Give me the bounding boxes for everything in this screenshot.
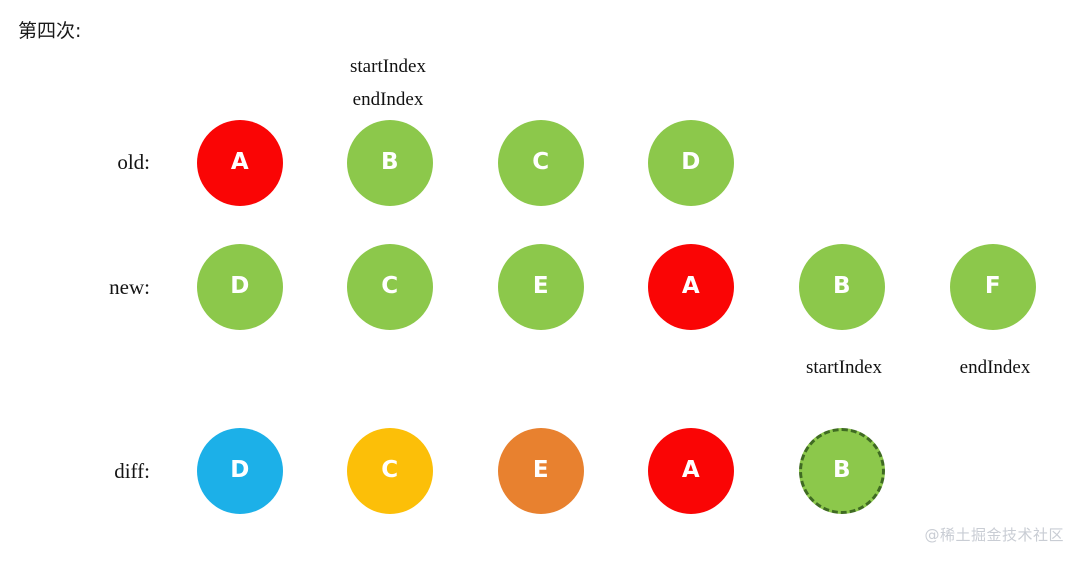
node-old-c[interactable]: C (498, 120, 584, 206)
node-label: B (833, 459, 851, 482)
node-diff-a[interactable]: A (648, 428, 734, 514)
node-new-a[interactable]: A (648, 244, 734, 330)
index-annotation-new-end-index: endIndex (960, 357, 1031, 379)
row-label-new: new: (60, 275, 150, 300)
node-label: C (381, 459, 398, 482)
node-diff-b[interactable]: B (799, 428, 885, 514)
node-label: D (230, 459, 250, 482)
node-label: C (381, 275, 398, 298)
node-old-d[interactable]: D (648, 120, 734, 206)
node-label: A (682, 459, 700, 482)
node-new-d[interactable]: D (197, 244, 283, 330)
index-annotation-old-end-index: endIndex (353, 89, 424, 111)
index-annotation-old-start-index: startIndex (350, 56, 426, 78)
node-new-c[interactable]: C (347, 244, 433, 330)
node-label: B (381, 151, 399, 174)
diagram-canvas: 第四次: old: new: diff: startIndexendIndexA… (0, 0, 1080, 561)
node-label: B (833, 275, 851, 298)
node-new-f[interactable]: F (950, 244, 1036, 330)
node-label: C (532, 151, 549, 174)
node-old-a[interactable]: A (197, 120, 283, 206)
node-diff-c[interactable]: C (347, 428, 433, 514)
node-label: E (533, 459, 549, 482)
node-label: D (230, 275, 250, 298)
node-diff-d[interactable]: D (197, 428, 283, 514)
node-label: A (231, 151, 249, 174)
node-label: F (985, 275, 1001, 298)
node-label: A (682, 275, 700, 298)
node-old-b[interactable]: B (347, 120, 433, 206)
row-label-diff: diff: (60, 459, 150, 484)
node-diff-e[interactable]: E (498, 428, 584, 514)
node-new-e[interactable]: E (498, 244, 584, 330)
index-annotation-new-start-index: startIndex (806, 357, 882, 379)
node-new-b[interactable]: B (799, 244, 885, 330)
node-label: E (533, 275, 549, 298)
watermark: @稀土掘金技术社区 (924, 524, 1064, 545)
node-label: D (681, 151, 701, 174)
row-label-old: old: (60, 150, 150, 175)
page-title: 第四次: (18, 20, 81, 43)
